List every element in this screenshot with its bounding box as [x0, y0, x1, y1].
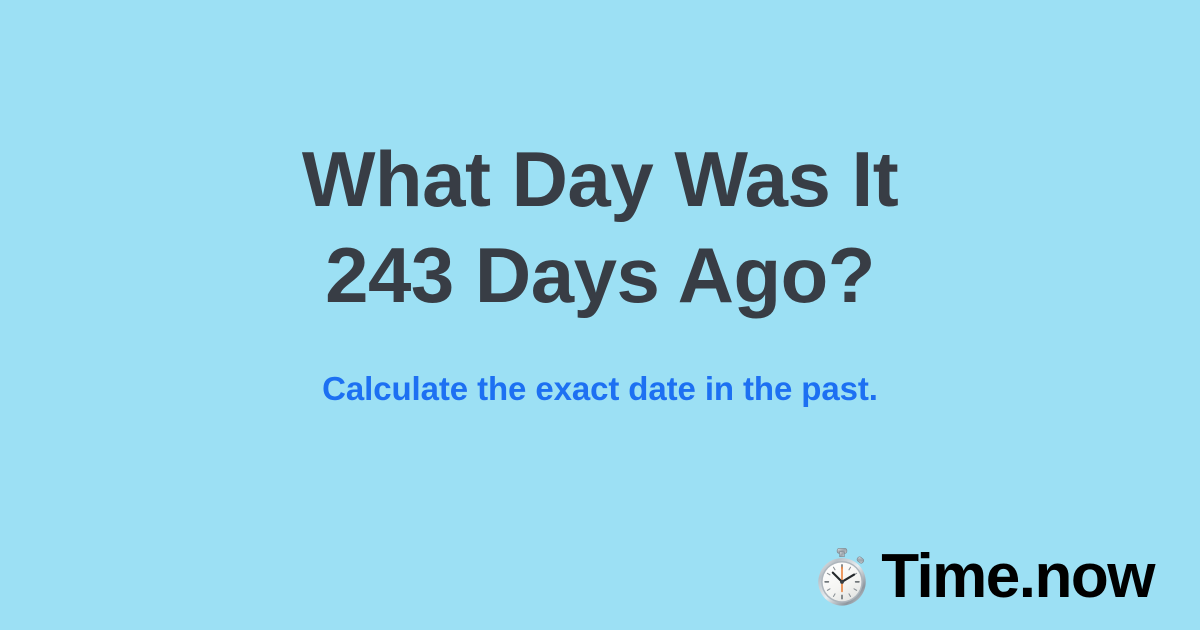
brand-lockup: Time.now: [811, 546, 1154, 608]
brand-name: Time.now: [881, 546, 1154, 608]
stopwatch-icon: [811, 546, 873, 608]
hero-block: What Day Was It 243 Days Ago? Calculate …: [0, 132, 1200, 408]
page-title-line-1: What Day Was It: [302, 132, 898, 228]
page-title: What Day Was It 243 Days Ago?: [302, 132, 898, 324]
social-share-card: What Day Was It 243 Days Ago? Calculate …: [0, 0, 1200, 630]
page-subtitle: Calculate the exact date in the past.: [322, 370, 878, 408]
page-title-line-2: 243 Days Ago?: [302, 228, 898, 324]
